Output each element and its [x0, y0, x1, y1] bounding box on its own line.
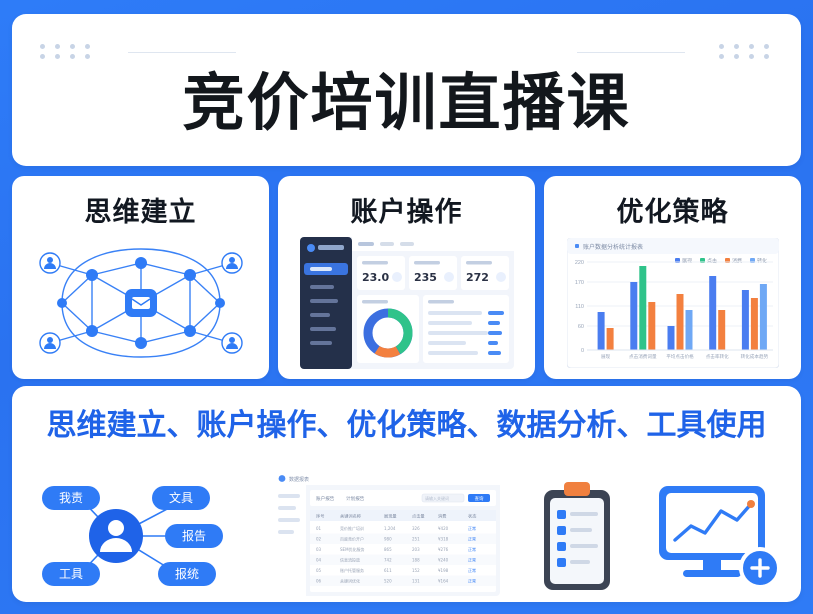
svg-text:转化: 转化: [757, 258, 767, 265]
page-title: 竞价培训直播课: [182, 52, 630, 142]
poster-root: 竞价培训直播课 思维建立: [0, 0, 813, 614]
svg-text:计划报告: 计划报告: [346, 495, 365, 502]
svg-text:06: 06: [316, 579, 322, 584]
bottom-headline: 思维建立、账户操作、优化策略、数据分析、工具使用: [28, 400, 785, 444]
svg-text:203: 203: [412, 547, 420, 552]
svg-text:272: 272: [466, 271, 489, 284]
network-diagram-icon: [20, 235, 261, 371]
dot-grid-left: [40, 44, 94, 59]
svg-text:03: 03: [316, 547, 322, 552]
dot-grid-right: [719, 44, 773, 59]
feature-card-row: 思维建立: [12, 176, 801, 376]
svg-text:¥240: ¥240: [438, 558, 449, 563]
svg-text:251: 251: [412, 537, 420, 542]
data-table-screenshot: 数据报表 账户报告计划报告 请输入关键词 查询: [272, 472, 500, 596]
feature-card-account[interactable]: 账户操作: [278, 176, 535, 379]
svg-text:数据报表: 数据报表: [289, 476, 309, 483]
pill-label: 文具: [169, 490, 193, 505]
svg-text:220: 220: [574, 260, 583, 266]
svg-text:131: 131: [412, 579, 420, 584]
svg-text:980: 980: [384, 537, 392, 542]
svg-text:326: 326: [412, 526, 420, 531]
svg-text:查询: 查询: [474, 495, 483, 502]
svg-text:¥276: ¥276: [438, 547, 449, 552]
svg-text:信息流投放: 信息流投放: [340, 557, 360, 563]
pill-label: 报统: [175, 566, 199, 581]
svg-text:关键词名称: 关键词名称: [340, 513, 361, 520]
svg-text:竞价推广培训: 竞价推广培训: [340, 525, 364, 531]
svg-text:SEM优化服务: SEM优化服务: [340, 546, 365, 552]
svg-text:点击消费词量: 点击消费词量: [629, 353, 657, 360]
svg-text:平均点击价格: 平均点击价格: [666, 353, 694, 360]
svg-text:¥420: ¥420: [438, 526, 449, 531]
svg-text:188: 188: [412, 558, 420, 563]
svg-text:正常: 正常: [468, 525, 476, 531]
svg-text:742: 742: [384, 558, 392, 563]
svg-text:正常: 正常: [468, 567, 476, 573]
bottom-icon-row: 我责 文具 报告 工具: [28, 450, 785, 596]
svg-text:正常: 正常: [468, 557, 476, 563]
svg-text:账户报告: 账户报告: [316, 495, 335, 502]
svg-text:02: 02: [316, 537, 322, 542]
svg-text:关键词优化: 关键词优化: [340, 578, 360, 584]
svg-text:23.0: 23.0: [362, 271, 389, 284]
svg-text:账户数据分析统计报表: 账户数据分析统计报表: [583, 243, 643, 251]
svg-text:正常: 正常: [468, 578, 476, 584]
svg-text:01: 01: [316, 526, 322, 531]
svg-text:点击量: 点击量: [412, 513, 425, 520]
svg-text:转化成本趋势: 转化成本趋势: [740, 353, 768, 360]
svg-text:状态: 状态: [468, 513, 476, 520]
svg-text:520: 520: [384, 579, 392, 584]
bar-chart-screenshot: 账户数据分析统计报表 展现点击消费转化 060110170220 展现点击消费词…: [552, 235, 793, 371]
svg-text:正常: 正常: [468, 536, 476, 542]
svg-text:152: 152: [412, 568, 420, 573]
svg-text:请输入关键词: 请输入关键词: [425, 495, 449, 501]
svg-text:序号: 序号: [316, 513, 324, 520]
svg-text:0: 0: [580, 348, 583, 354]
svg-text:展现量: 展现量: [384, 513, 397, 520]
clipboard-icon: [538, 480, 616, 596]
svg-text:110: 110: [575, 304, 584, 310]
svg-text:865: 865: [384, 547, 392, 552]
svg-text:1,204: 1,204: [384, 526, 396, 531]
svg-text:170: 170: [574, 280, 583, 286]
svg-text:235: 235: [414, 271, 437, 284]
svg-text:04: 04: [316, 558, 322, 563]
feature-card-title: 账户操作: [351, 190, 463, 229]
svg-text:60: 60: [577, 324, 583, 330]
dashboard-screenshot: 23.0 235 272: [286, 235, 527, 371]
svg-text:百度竞价开户: 百度竞价开户: [340, 536, 364, 542]
title-card: 竞价培训直播课: [12, 14, 801, 166]
svg-text:点击率转化: 点击率转化: [705, 353, 728, 360]
monitor-chart-icon: [655, 478, 785, 596]
pill-label: 我责: [59, 491, 83, 505]
person-node-icon: 我责 文具 报告 工具: [28, 476, 233, 596]
feature-card-thinking[interactable]: 思维建立: [12, 176, 269, 379]
svg-text:点击: 点击: [707, 258, 717, 265]
svg-text:¥198: ¥198: [438, 568, 449, 573]
svg-text:正常: 正常: [468, 546, 476, 552]
feature-card-title: 优化策略: [617, 190, 729, 229]
svg-text:¥164: ¥164: [438, 579, 449, 584]
svg-text:¥318: ¥318: [438, 537, 449, 542]
feature-card-strategy[interactable]: 优化策略 账户数据分析统计报表 展现点击消费转化 060110170220 展现…: [544, 176, 801, 379]
svg-text:账户托管服务: 账户托管服务: [340, 567, 364, 573]
pill-label: 报告: [182, 528, 206, 543]
feature-card-title: 思维建立: [85, 190, 197, 229]
svg-text:消费: 消费: [732, 258, 742, 265]
svg-text:消费: 消费: [438, 513, 446, 520]
bottom-card: 思维建立、账户操作、优化策略、数据分析、工具使用 我责: [12, 386, 801, 602]
pill-label: 工具: [59, 567, 83, 581]
divider-left: [128, 52, 236, 53]
svg-text:611: 611: [384, 568, 392, 573]
divider-right: [577, 52, 685, 53]
svg-text:05: 05: [316, 568, 322, 573]
